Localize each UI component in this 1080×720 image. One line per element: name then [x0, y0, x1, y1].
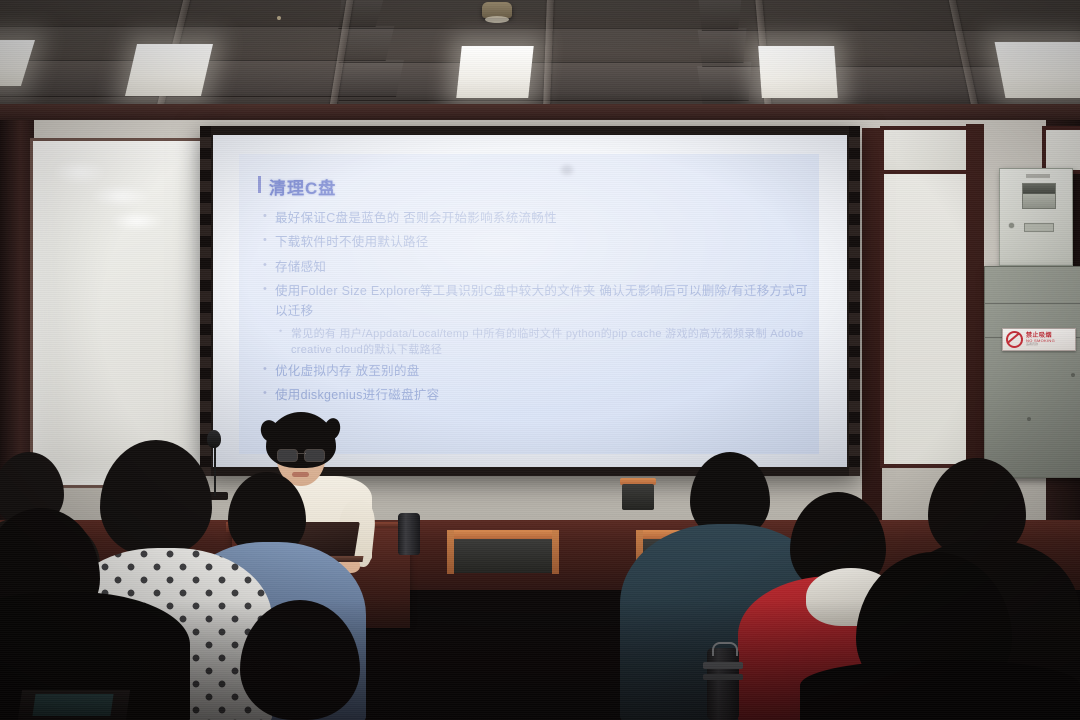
right-wall-panel-3: [1042, 126, 1080, 174]
no-smoking-sub: 违者罚款: [1026, 343, 1055, 346]
slide-title: 清理C盘: [269, 174, 336, 199]
whiteboard-left: [30, 138, 204, 488]
lecture-hall-photo: 禁止吸烟 NO SMOKING 违者罚款 清理C盘 最好保证C盘是蓝色的 否则会…: [0, 0, 1080, 720]
right-wall-panel-2: [880, 170, 978, 468]
no-smoking-icon: [1006, 331, 1023, 348]
presenter-mouth: [292, 472, 309, 477]
ceiling-light-2: [456, 46, 533, 98]
chair-1: [443, 527, 563, 577]
presentation-slide: 清理C盘 最好保证C盘是蓝色的 否则会开始影响系统流畅性 下载软件时不使用默认路…: [239, 154, 819, 454]
electrical-meter-box: [999, 168, 1073, 266]
slide-bullet: 存储感知: [261, 258, 809, 277]
ceiling-light-1: [125, 44, 213, 96]
thermos-ring-2: [703, 674, 743, 680]
smoke-detector-icon: [482, 2, 512, 18]
ceiling-light-3: [758, 46, 838, 98]
slide-title-accent-bar: [258, 176, 261, 193]
chair-3: [620, 478, 658, 518]
slide-bullet: 使用diskgenius进行磁盘扩容: [261, 386, 809, 405]
foreground-laptop-screen: [32, 694, 113, 716]
slide-bullet: 优化虚拟内存 放至别的盘: [261, 362, 809, 381]
thermos-ring: [703, 662, 743, 669]
screen-smudge: [561, 165, 573, 175]
thermos-bottle: [707, 648, 739, 720]
no-smoking-sign: 禁止吸烟 NO SMOKING 违者罚款: [1002, 328, 1076, 351]
right-wall-panel-1: [880, 126, 978, 174]
thermos-handle: [712, 642, 738, 656]
thermos-podium: [398, 513, 420, 555]
glasses-icon: [277, 449, 325, 460]
slide-bullet: 使用Folder Size Explorer等工具识别C盘中较大的文件夹 确认无…: [261, 282, 809, 321]
electrical-cabinet: 禁止吸烟 NO SMOKING 违者罚款: [984, 266, 1080, 478]
slide-bullet: 最好保证C盘是蓝色的 否则会开始影响系统流畅性: [261, 209, 809, 228]
ceiling-light-4: [995, 42, 1080, 98]
slide-bullet: 下载软件时不使用默认路径: [261, 233, 809, 252]
right-wood-column: [862, 128, 882, 548]
microphone-icon: [207, 430, 221, 448]
slide-sub-bullet: 常见的有 用户/Appdata/Local/temp 中所有的临时文件 pyth…: [261, 326, 809, 359]
slide-bullet-list: 最好保证C盘是蓝色的 否则会开始影响系统流畅性 下载软件时不使用默认路径 存储感…: [261, 209, 809, 411]
